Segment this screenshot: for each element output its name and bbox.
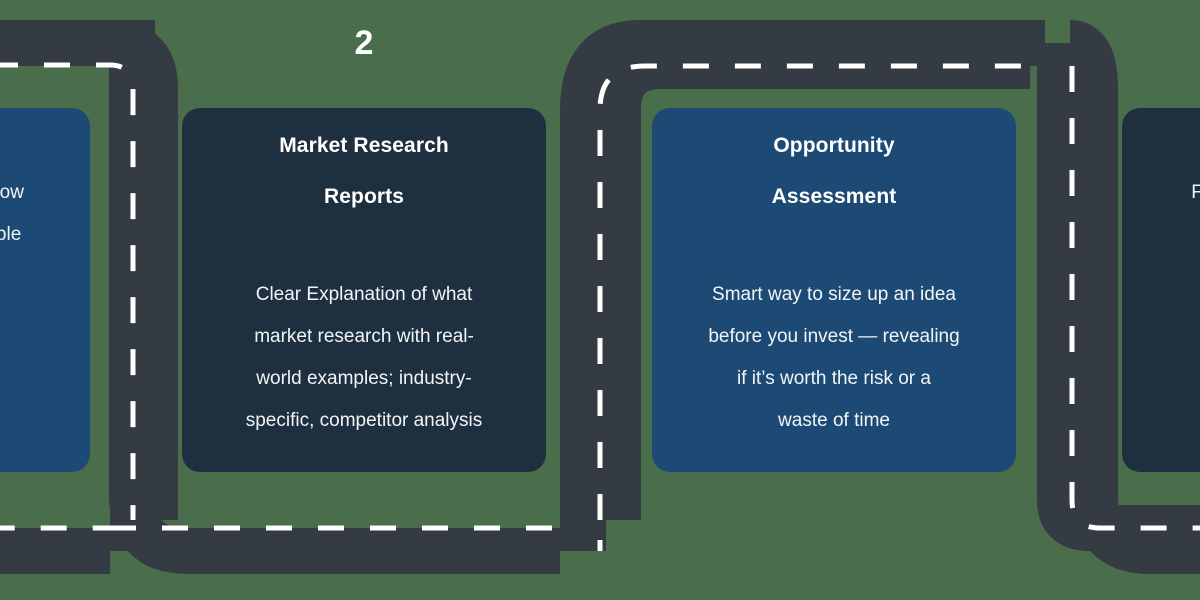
card-body: Clear Explanation of what market researc… [182, 222, 546, 442]
card-title: Opportunity Assessment [772, 108, 897, 222]
step-number-2: 2 [314, 26, 414, 60]
roadmap-card-market-research-reports[interactable]: Market Research Reports Clear Explanatio… [182, 108, 546, 472]
card-title: Market Research Reports [279, 108, 449, 222]
roadmap-card-1[interactable]: …now …iple [0, 108, 90, 472]
card-body: Fro… n… [1122, 120, 1200, 256]
roadmap-card-4[interactable]: Fro… n… [1122, 108, 1200, 472]
road-asphalt [0, 0, 1200, 551]
road-path-graphic [0, 0, 1200, 600]
card-body: Smart way to size up an idea before you … [652, 222, 1016, 442]
roadmap-card-opportunity-assessment[interactable]: Opportunity Assessment Smart way to size… [652, 108, 1016, 472]
roadmap-infographic: 2 …now …iple Market Research Reports Cle… [0, 0, 1200, 600]
card-body: …now …iple [0, 120, 90, 256]
